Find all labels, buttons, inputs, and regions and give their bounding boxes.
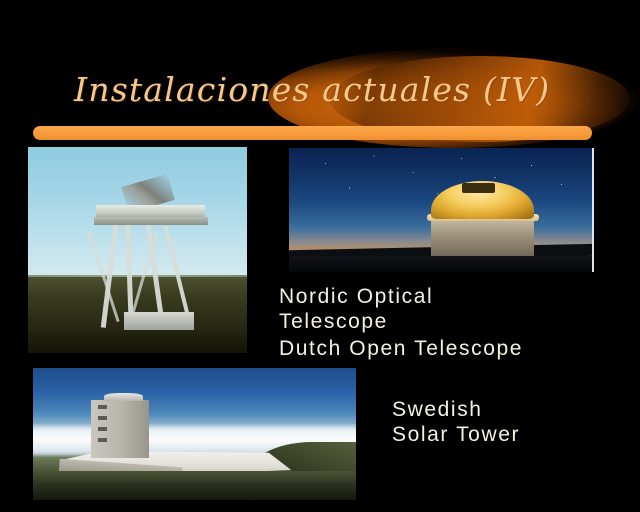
telescope-platform-edge	[94, 217, 208, 225]
page-title: Instalaciones actuales (IV)	[74, 70, 550, 109]
photo-nordic-optical-telescope	[289, 148, 594, 272]
solar-tower-windows	[98, 405, 108, 447]
caption-nordic-optical-telescope: Nordic Optical Telescope	[279, 284, 433, 334]
photo-swedish-solar-tower	[33, 368, 356, 500]
caption-dutch-open-telescope: Dutch Open Telescope	[279, 336, 523, 361]
solar-tower-turret	[104, 393, 143, 401]
title-accent-bar	[33, 126, 592, 140]
photo-foreground	[289, 256, 592, 272]
photo-dutch-open-telescope	[28, 147, 247, 353]
observatory-building	[431, 217, 534, 258]
observatory-dome-slit	[462, 183, 495, 193]
tower-base-pad	[124, 312, 194, 331]
presentation-slide: Instalaciones actuales (IV)	[0, 0, 640, 512]
caption-swedish-solar-tower: Swedish Solar Tower	[392, 397, 520, 447]
photo-foreground	[33, 471, 356, 500]
